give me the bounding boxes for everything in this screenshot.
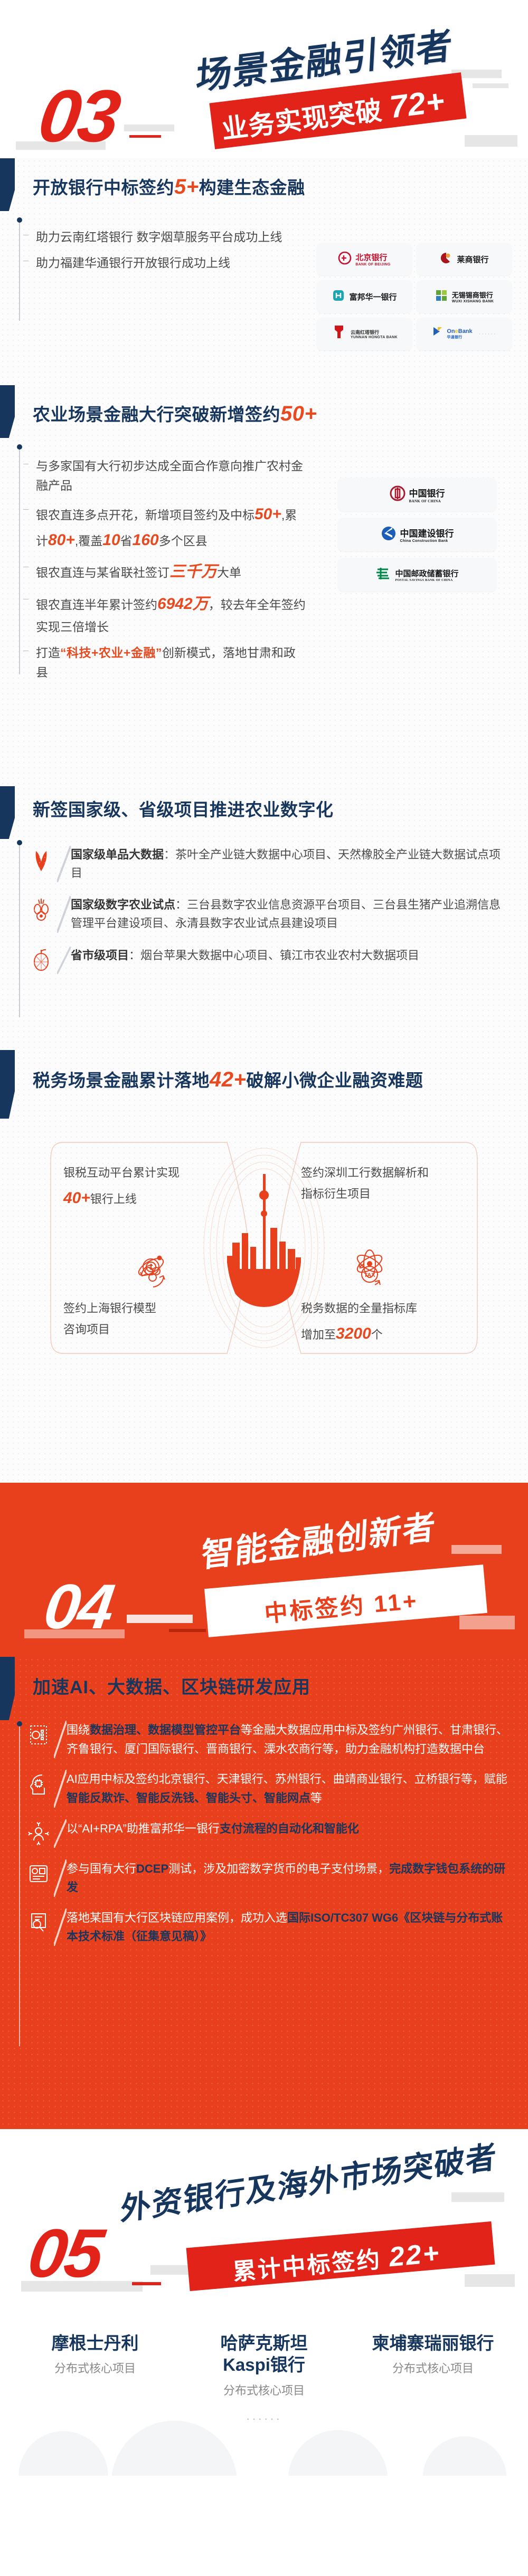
overseas-bank-item[interactable]: 哈萨克斯坦 Kaspi银行 分布式核心项目 xyxy=(190,2332,338,2398)
bank-logo-name: 中国银行BANK OF CHINA xyxy=(409,486,445,503)
rpa-robot-icon xyxy=(24,1819,53,1848)
open-banking-logo-grid: 北京银行BANK OF BEIJING 莱商银行 富邦华一银行 无锡锡商银行WU… xyxy=(317,243,512,350)
heading-after: 构建生态金融 xyxy=(199,178,305,197)
bank-logo-name: 莱商银行 xyxy=(457,254,488,265)
section-title: 智能金融创新者 xyxy=(200,1500,437,1577)
tax-quadrant: 签约上海银行模型 咨询项目 xyxy=(63,1298,238,1341)
deco-bar xyxy=(451,1545,502,1554)
cloud-decoration xyxy=(0,2397,528,2476)
quadrant-prefix: 增加至 xyxy=(301,1328,336,1341)
bank-logo-card[interactable]: 无锡锡商银行WUXI XISHANG BANK xyxy=(417,280,512,313)
fubon-logo-icon xyxy=(332,289,345,305)
bank-logo-card[interactable]: 富邦华一银行 xyxy=(317,280,412,313)
overseas-more-dots: ······ xyxy=(0,2412,528,2426)
divider xyxy=(54,1721,67,1758)
agriculture-bullets: 与多家国有大行初步达成全面合作意向推广农村金融产品 银农直连多点开花，新增项目签… xyxy=(0,434,306,701)
list-item: AI应用中标及签约北京银行、天津银行、苏州银行、曲靖商业银行、立桥银行等，赋能智… xyxy=(0,1770,528,1819)
psbc-logo-icon xyxy=(375,566,391,584)
bank-logo-name: 北京银行BANK OF BEIJING xyxy=(355,252,390,266)
bank-logo-en: WUXI XISHANG BANK xyxy=(452,300,494,303)
ai-brain-icon xyxy=(24,1770,53,1798)
quadrant-number: 3200 xyxy=(336,1325,371,1342)
deco-bar xyxy=(465,2274,515,2287)
overseas-bank-item[interactable]: 摩根士丹利 分布式核心项目 xyxy=(21,2332,169,2398)
bank-logo-name: 富邦华一银行 xyxy=(349,291,397,302)
tax-quadrant: 银税互动平台累计实现 40+银行上线 xyxy=(63,1162,238,1213)
ai-item-text: AI应用中标及签约北京银行、天津银行、苏州银行、曲靖商业银行、立桥银行等，赋能智… xyxy=(67,1770,510,1807)
bank-logo-card[interactable]: 中国银行BANK OF CHINA xyxy=(338,478,496,511)
logos-more-dots: ······ xyxy=(479,331,497,337)
deco-bar xyxy=(473,83,508,88)
list-item: 以“AI+RPA”助推富邦华一银行支付流程的自动化和智能化 xyxy=(0,1819,528,1859)
bank-logo-name: 中国邮政储蓄银行POSTAL SAVINGS BANK OF CHINA xyxy=(395,568,458,582)
section-number: 03 xyxy=(34,79,122,153)
heading-before: 开放银行中标签约 xyxy=(33,178,174,197)
bank-logo-en: China Construction Bank xyxy=(400,539,454,543)
national-heading: 新签国家级、省级项目推进农业数字化 xyxy=(0,786,528,828)
section-05-hero: 05 外资银行及海外市场突破者 累计中标签约 22+ xyxy=(0,2129,528,2303)
open-banking-bullets: 助力云南红塔银行 数字烟草服务平台成功上线 助力福建华通银行开放银行成功上线 xyxy=(0,207,312,291)
model-cycle-icon xyxy=(136,1260,169,1295)
bank-logo-card[interactable]: 莱商银行 xyxy=(417,243,512,275)
bank-logo-en: BANK OF BEIJING xyxy=(355,263,390,266)
connector-dot xyxy=(17,840,22,845)
quadrant-line1: 签约深圳工行数据解析和 xyxy=(301,1162,475,1184)
bank-logo-card[interactable]: 中国邮政储蓄银行POSTAL SAVINGS BANK OF CHINA xyxy=(338,558,496,591)
overseas-bank-name: 摩根士丹利 xyxy=(21,2332,169,2354)
ai-item-text: 以“AI+RPA”助推富邦华一银行支付流程的自动化和智能化 xyxy=(67,1819,510,1838)
boc-logo-icon xyxy=(390,485,406,504)
laishang-logo-icon xyxy=(439,251,453,268)
list-item: 打造“科技+农业+金融”创新模式，落地甘肃和政县 xyxy=(32,643,306,683)
bank-logo-name: 云南红塔银行YUNNAN HONGTA BANK xyxy=(351,329,398,339)
open-banking-section: 开放银行中标签约5+构建生态金融 助力云南红塔银行 数字烟草服务平台成功上线 助… xyxy=(0,158,528,385)
ai-item-list: 围绕数据治理、数据模型管控平台等金融大数据应用中标及签约广州银行、甘肃银行、齐鲁… xyxy=(0,1704,528,1958)
ccb-logo-icon xyxy=(381,526,397,544)
xishang-logo-icon xyxy=(435,289,448,305)
divider xyxy=(54,1859,67,1897)
heading-highlight: 5+ xyxy=(174,175,199,198)
tax-section: 税务场景金融累计落地42+破解小微企业融资难题 xyxy=(0,1050,528,1483)
bank-logo-en: YUNNAN HONGTA BANK xyxy=(351,336,398,339)
bank-logo-en: BANK OF CHINA xyxy=(409,499,445,503)
list-item: 落地某国有大行区块链应用案例，成功入选国际ISO/TC307 WG6《区块链与分… xyxy=(0,1909,528,1958)
connector-line xyxy=(19,843,20,1017)
list-item: 与多家国有大行初步达成全面合作意向推广农村金融产品 xyxy=(32,456,306,496)
bank-logo-card[interactable]: 北京银行BANK OF BEIJING xyxy=(317,243,412,275)
divider xyxy=(54,1909,67,1946)
deco-bar xyxy=(124,125,174,131)
list-item: 银农直连与某省联社签订三千万大单 xyxy=(32,559,306,585)
divider xyxy=(54,1819,67,1848)
list-item: 参与国有大行DCEP测试，涉及加密数字货币的电子支付场景，完成数字钱包系统的研发 xyxy=(0,1859,528,1909)
list-item: 银农直连半年累计签约6942万，较去年全年签约实现三倍增长 xyxy=(32,591,306,637)
quadrant-line2: 40+银行上线 xyxy=(63,1184,238,1213)
band-number: 72+ xyxy=(388,83,447,125)
certificate-icon xyxy=(24,1909,53,1937)
overseas-bank-name: 柬埔寨瑞丽银行 xyxy=(359,2332,507,2354)
list-item: 助力云南红塔银行 数字烟草服务平台成功上线 xyxy=(32,227,312,247)
onebank-logo-icon xyxy=(431,326,443,342)
dcep-wallet-icon xyxy=(24,1859,53,1888)
list-item: 助力福建华通银行开放银行成功上线 xyxy=(32,253,312,273)
tax-heading: 税务场景金融累计落地42+破解小微企业融资难题 xyxy=(0,1050,528,1100)
list-item: 银农直连多点开花，新增项目签约及中标50+,累计80+,覆盖10省160多个区县 xyxy=(32,502,306,553)
quadrant-line2: 增加至3200个 xyxy=(301,1319,475,1349)
overseas-section: 摩根士丹利 分布式核心项目 哈萨克斯坦 Kaspi银行 分布式核心项目 柬埔寨瑞… xyxy=(0,2303,528,2476)
agriculture-logo-grid: 中国银行BANK OF CHINA 中国建设银行China Constructi… xyxy=(338,478,496,591)
bank-logo-name: OneBank华通银行 xyxy=(447,328,472,340)
bank-logo-name: 中国建设银行China Construction Bank xyxy=(400,526,454,543)
bob-logo-icon xyxy=(338,251,352,268)
bank-logo-card[interactable]: 中国建设银行China Construction Bank xyxy=(338,518,496,551)
deco-bar xyxy=(24,1629,125,1638)
hongta-logo-icon xyxy=(331,324,347,345)
data-platform-icon xyxy=(24,1721,53,1749)
ai-item-text: 落地某国有大行区块链应用案例，成功入选国际ISO/TC307 WG6《区块链与分… xyxy=(67,1909,510,1946)
ai-item-text: 参与国有大行DCEP测试，涉及加密数字货币的电子支付场景，完成数字钱包系统的研发 xyxy=(67,1859,510,1897)
heading-after: 破解小微企业融资难题 xyxy=(246,1071,423,1090)
deco-bar xyxy=(127,1615,193,1623)
section-number: 04 xyxy=(41,1575,117,1638)
section-03-hero: 03 场景金融引领者 业务实现突破 72+ xyxy=(0,0,528,158)
ai-item-text: 围绕数据治理、数据模型管控平台等金融大数据应用中标及签约广州银行、甘肃银行、齐鲁… xyxy=(67,1721,510,1758)
tax-diagram: 银税互动平台累计实现 40+银行上线 签约深圳工行数据解析和 指标衍生项目 xyxy=(0,1111,528,1385)
bank-logo-card[interactable]: OneBank华通银行 ······ xyxy=(417,318,512,350)
tax-quadrant: 税务数据的全量指标库 增加至3200个 xyxy=(301,1298,475,1349)
heading-before: 农业场景金融大行突破新增签约 xyxy=(33,405,280,424)
ai-heading: 加速AI、大数据、区块链研发应用 xyxy=(0,1657,528,1704)
bank-logo-en: POSTAL SAVINGS BANK OF CHINA xyxy=(395,579,458,582)
band-number: 22+ xyxy=(388,2238,442,2273)
quadrant-line1: 银税互动平台累计实现 xyxy=(63,1162,238,1184)
heading-highlight: 42+ xyxy=(210,1068,246,1091)
deco-bar xyxy=(459,1616,515,1629)
heading-before: 税务场景金融累计落地 xyxy=(33,1071,210,1090)
deco-bar xyxy=(169,1629,206,1632)
agriculture-section: 农业场景金融大行突破新增签约50+ 与多家国有大行初步达成全面合作意向推广农村金… xyxy=(0,385,528,786)
list-item: 围绕数据治理、数据模型管控平台等金融大数据应用中标及签约广州银行、甘肃银行、齐鲁… xyxy=(0,1721,528,1770)
svg-text:TAX: TAX xyxy=(364,1272,375,1279)
bank-logo-card[interactable]: 云南红塔银行YUNNAN HONGTA BANK xyxy=(317,318,412,350)
overseas-bank-grid: 摩根士丹利 分布式核心项目 哈萨克斯坦 Kaspi银行 分布式核心项目 柬埔寨瑞… xyxy=(0,2303,528,2398)
tax-cycle-icon: TAX xyxy=(353,1257,386,1294)
deco-bar-red xyxy=(132,2282,161,2285)
deco-bar xyxy=(451,2192,504,2202)
overseas-bank-sub: 分布式核心项目 xyxy=(359,2359,507,2376)
deco-bar xyxy=(465,135,517,147)
quadrant-line1: 税务数据的全量指标库 xyxy=(301,1298,475,1320)
overseas-bank-item[interactable]: 柬埔寨瑞丽银行 分布式核心项目 xyxy=(359,2332,507,2398)
quadrant-suffix: 银行上线 xyxy=(90,1192,137,1206)
band-label: 累计中标签约 xyxy=(232,2247,382,2285)
open-banking-heading: 开放银行中标签约5+构建生态金融 xyxy=(0,158,528,207)
section-number: 05 xyxy=(24,2219,106,2287)
quadrant-number: 40+ xyxy=(63,1189,90,1207)
section-04-hero: 04 智能金融创新者 中标签约 11+ xyxy=(0,1483,528,1657)
overseas-bank-sub: 分布式核心项目 xyxy=(190,2381,338,2398)
divider xyxy=(54,1770,67,1807)
overseas-bank-sub: 分布式核心项目 xyxy=(21,2359,169,2376)
bank-logo-name: 无锡锡商银行WUXI XISHANG BANK xyxy=(452,290,494,303)
national-projects-section: 新签国家级、省级项目推进农业数字化 国家级单品大数据：茶叶全产业链大数据中心项目… xyxy=(0,786,528,1050)
quadrant-line1: 签约上海银行模型 xyxy=(63,1298,238,1320)
overseas-bank-name: 哈萨克斯坦 Kaspi银行 xyxy=(190,2332,338,2376)
quadrant-line2: 指标衍生项目 xyxy=(301,1184,475,1205)
quadrant-suffix: 个 xyxy=(371,1328,383,1341)
deco-bar-red xyxy=(129,135,161,138)
agriculture-heading: 农业场景金融大行突破新增签约50+ xyxy=(0,385,528,434)
heading-highlight: 50+ xyxy=(280,402,317,425)
quadrant-line2: 咨询项目 xyxy=(63,1319,238,1341)
tax-quadrant: 签约深圳工行数据解析和 指标衍生项目 xyxy=(301,1162,475,1205)
ai-blockchain-section: 加速AI、大数据、区块链研发应用 围绕数据治理、数据模型管控平台等金融大数据应用… xyxy=(0,1657,528,2129)
section-title: 外资银行及海外市场突破者 xyxy=(120,2131,498,2229)
band-number: 11+ xyxy=(373,1588,419,1617)
